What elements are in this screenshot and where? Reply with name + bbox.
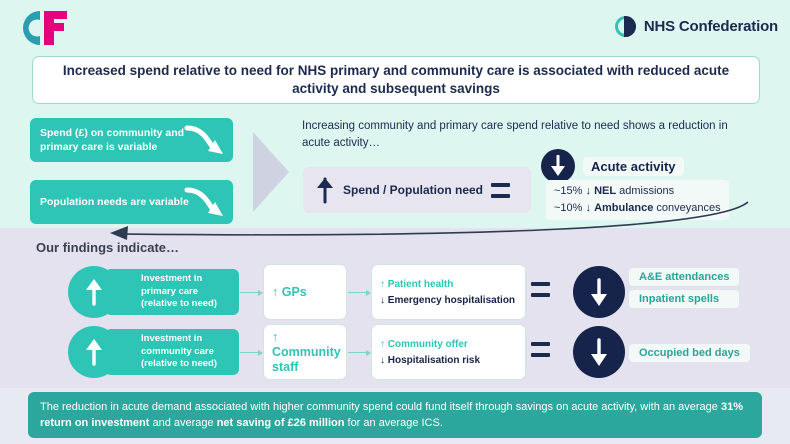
step-label: ↑ GPs <box>272 285 307 300</box>
title-banner: Increased spend relative to need for NHS… <box>32 56 760 104</box>
investment-box: Investment in community care (relative t… <box>105 329 239 375</box>
up-arrow-icon <box>68 326 120 378</box>
result-tags: Occupied bed days <box>629 344 750 362</box>
nhs-logo-text: NHS Confederation <box>644 18 778 35</box>
investment-box: Investment in primary care (relative to … <box>105 269 239 315</box>
statement-population-needs: Population needs are variable <box>30 180 233 224</box>
middle-heading: Increasing community and primary care sp… <box>302 118 732 153</box>
result-tags: A&E attendances Inpatient spells <box>629 268 739 308</box>
down-arrow-icon <box>541 149 575 183</box>
acute-activity-stats: ~15% ↓ NEL admissions ~10% ↓ Ambulance c… <box>546 180 729 220</box>
infographic-canvas: NHS Confederation Increased spend relati… <box>0 0 790 444</box>
stat-bold: NEL <box>594 185 616 197</box>
equals-icon <box>531 282 550 297</box>
acute-stat-row: ~15% ↓ NEL admissions <box>554 183 721 200</box>
nhs-circle-icon <box>615 16 636 37</box>
result-tag: Occupied bed days <box>629 344 750 362</box>
result-tag: A&E attendances <box>629 268 739 286</box>
connector-arrow <box>240 352 262 353</box>
title-text: Increased spend relative to need for NHS… <box>33 62 759 98</box>
step-community-staff-box: ↑ Community staff <box>263 324 347 380</box>
statement-spend-variable: Spend (£) on community and primary care … <box>30 118 233 162</box>
down-arrow-icon <box>573 266 625 318</box>
connector-arrow <box>348 292 370 293</box>
outcome-positive: ↑ Community offer <box>380 339 517 350</box>
outcome-box: ↑ Patient health ↓ Emergency hospitalisa… <box>371 264 526 320</box>
connector-arrow <box>240 292 262 293</box>
acute-activity-title: Acute activity <box>583 157 684 176</box>
down-arrow-icon <box>573 326 625 378</box>
acute-activity-header: Acute activity <box>541 149 684 183</box>
up-arrow-icon <box>315 176 335 204</box>
statement-text: Population needs are variable <box>40 195 189 209</box>
investment-label: Investment in primary care (relative to … <box>141 273 231 311</box>
spend-over-need-box: Spend / Population need <box>303 167 531 213</box>
right-chevron-icon <box>253 126 291 218</box>
stat-suffix: admissions <box>616 185 674 197</box>
step-gps-box: ↑ GPs <box>263 264 347 320</box>
findings-heading: Our findings indicate… <box>36 240 179 255</box>
outcome-negative: ↓ Emergency hospitalisation <box>380 295 517 306</box>
stat-suffix: conveyances <box>653 202 720 214</box>
footer-text: The reduction in acute demand associated… <box>40 399 750 432</box>
equals-icon <box>531 342 550 357</box>
stat-prefix: ~10% ↓ <box>554 202 594 214</box>
statement-text: Spend (£) on community and primary care … <box>40 126 223 154</box>
acute-stat-row: ~10% ↓ Ambulance conveyances <box>554 200 721 217</box>
step-label: ↑ Community staff <box>272 330 341 375</box>
nhs-confederation-logo: NHS Confederation <box>615 14 778 38</box>
stat-prefix: ~15% ↓ <box>554 185 594 197</box>
connector-arrow <box>348 352 370 353</box>
stat-bold: Ambulance <box>594 202 653 214</box>
footer-banner: The reduction in acute demand associated… <box>28 392 762 438</box>
findings-row-community-care: Investment in community care (relative t… <box>0 324 790 380</box>
up-arrow-icon <box>68 266 120 318</box>
spend-label: Spend / Population need <box>343 183 483 197</box>
outcome-box: ↑ Community offer ↓ Hospitalisation risk <box>371 324 526 380</box>
investment-label: Investment in community care (relative t… <box>141 333 231 371</box>
equals-icon <box>491 183 510 198</box>
outcome-negative: ↓ Hospitalisation risk <box>380 355 517 366</box>
findings-row-primary-care: Investment in primary care (relative to … <box>0 264 790 320</box>
cf-logo <box>14 8 84 48</box>
outcome-positive: ↑ Patient health <box>380 279 517 290</box>
curved-down-arrow-icon <box>183 186 229 220</box>
result-tag: Inpatient spells <box>629 290 739 308</box>
